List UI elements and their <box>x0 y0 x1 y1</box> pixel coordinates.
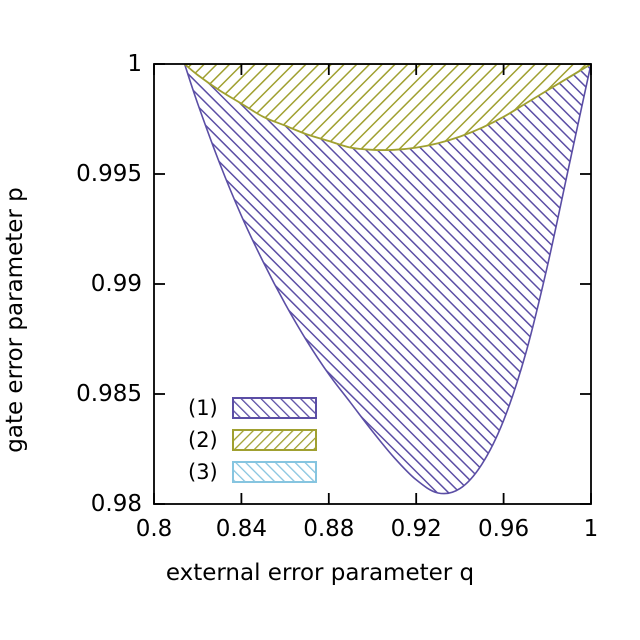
y-tick-label: 0.99 <box>20 271 142 297</box>
x-axis-title: external error parameter q <box>0 560 640 586</box>
legend-label-2[interactable]: (2) <box>188 428 218 452</box>
x-tick-label: 0.96 <box>478 516 529 542</box>
legend-swatches <box>233 398 316 482</box>
legend-label-1[interactable]: (1) <box>188 396 218 420</box>
legend-label-3[interactable]: (3) <box>188 460 218 484</box>
x-tick-label: 1 <box>584 516 599 542</box>
legend-swatch-2[interactable] <box>233 430 316 450</box>
y-tick-label: 0.985 <box>20 381 142 407</box>
y-tick-label: 1 <box>20 51 142 77</box>
chart-figure: gate error parameter p external error pa… <box>0 0 640 640</box>
x-tick-label: 0.88 <box>303 516 354 542</box>
x-tick-label: 0.8 <box>136 516 173 542</box>
y-axis-title: gate error parameter p <box>0 0 30 640</box>
legend-swatch-1[interactable] <box>233 398 316 418</box>
y-tick-label: 0.98 <box>20 491 142 517</box>
plot-canvas <box>0 0 640 640</box>
legend-swatch-3[interactable] <box>233 462 316 482</box>
y-tick-label: 0.995 <box>20 161 142 187</box>
x-tick-label: 0.84 <box>216 516 267 542</box>
x-tick-label: 0.92 <box>391 516 442 542</box>
